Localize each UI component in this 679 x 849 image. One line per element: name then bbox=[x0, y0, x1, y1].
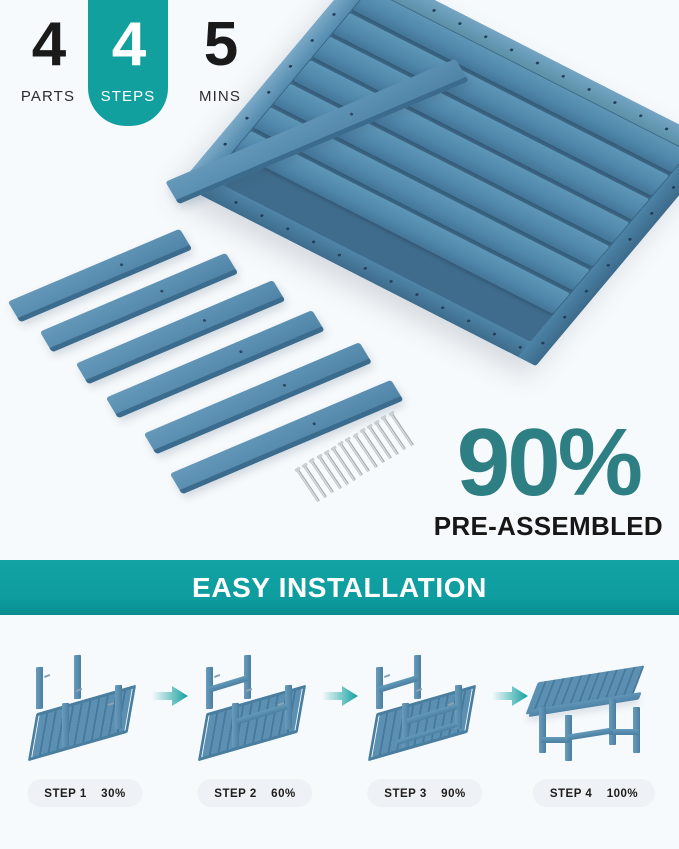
screw-hole bbox=[239, 350, 243, 354]
step-4-illustration bbox=[509, 645, 679, 765]
table-leg bbox=[609, 699, 616, 745]
step-2: STEP 2 60% bbox=[170, 629, 340, 839]
step-1-percent: 30% bbox=[101, 788, 126, 800]
screw-tick bbox=[384, 674, 390, 677]
screw-hole bbox=[349, 112, 353, 116]
screws-group bbox=[296, 408, 404, 500]
table-leg bbox=[232, 703, 239, 747]
easy-installation-banner: EASY INSTALLATION bbox=[0, 560, 679, 615]
step-4-name: STEP 4 bbox=[550, 788, 592, 800]
side-rail bbox=[208, 675, 248, 692]
step-3-name: STEP 3 bbox=[384, 788, 426, 800]
screw-tick bbox=[214, 674, 220, 677]
step-3-badge: STEP 3 90% bbox=[367, 779, 482, 807]
table-leg bbox=[36, 667, 43, 709]
step-1-name: STEP 1 bbox=[44, 788, 86, 800]
side-rail bbox=[378, 675, 418, 692]
stat-steps-label: STEPS bbox=[101, 88, 156, 105]
step-2-illustration bbox=[170, 645, 340, 765]
stat-mins-label: MINS bbox=[199, 88, 241, 105]
promo-percent: 90% bbox=[434, 418, 663, 507]
arrow-right-icon bbox=[492, 685, 528, 707]
step-3-percent: 90% bbox=[441, 788, 466, 800]
step-1-illustration bbox=[0, 645, 170, 765]
step-4: STEP 4 100% bbox=[509, 629, 679, 839]
installation-steps-strip: STEP 1 30% STEP 2 60% STEP 3 90% STEP 4 … bbox=[0, 615, 679, 849]
step-2-badge: STEP 2 60% bbox=[197, 779, 312, 807]
table-leg bbox=[539, 707, 546, 753]
promo-subtitle: PRE-ASSEMBLED bbox=[434, 511, 663, 542]
stat-steps-number: 4 bbox=[112, 14, 144, 76]
stats-bar: 4 PARTS 4 STEPS 5 MINS bbox=[0, 0, 260, 130]
screw-hole bbox=[160, 289, 164, 293]
stat-steps: 4 STEPS bbox=[88, 0, 168, 130]
step-1-badge: STEP 1 30% bbox=[27, 779, 142, 807]
step-2-name: STEP 2 bbox=[214, 788, 256, 800]
screw-hole bbox=[119, 263, 123, 267]
arrow-right-icon bbox=[152, 685, 188, 707]
screw-tick bbox=[44, 674, 50, 677]
stat-parts: 4 PARTS bbox=[8, 0, 88, 130]
banner-title: EASY INSTALLATION bbox=[192, 572, 487, 604]
tabletop-slat-panel bbox=[210, 0, 679, 342]
step-3-illustration bbox=[340, 645, 510, 765]
stat-parts-label: PARTS bbox=[21, 88, 75, 105]
table-leg bbox=[115, 685, 122, 729]
stat-mins: 5 MINS bbox=[180, 0, 260, 130]
step-4-badge: STEP 4 100% bbox=[533, 779, 655, 807]
pre-assembled-promo: 90% PRE-ASSEMBLED bbox=[434, 418, 663, 542]
arrow-right-icon bbox=[322, 685, 358, 707]
step-3: STEP 3 90% bbox=[340, 629, 510, 839]
table-leg bbox=[62, 703, 69, 747]
screw-hole bbox=[282, 383, 286, 387]
stat-mins-number: 5 bbox=[204, 14, 236, 76]
stat-parts-number: 4 bbox=[32, 14, 64, 76]
table-leg bbox=[74, 655, 81, 699]
step-4-percent: 100% bbox=[607, 788, 638, 800]
screw-hole bbox=[202, 319, 206, 323]
step-2-percent: 60% bbox=[271, 788, 296, 800]
lower-stretcher bbox=[609, 729, 639, 735]
step-1: STEP 1 30% bbox=[0, 629, 170, 839]
center-stretcher bbox=[567, 727, 613, 740]
